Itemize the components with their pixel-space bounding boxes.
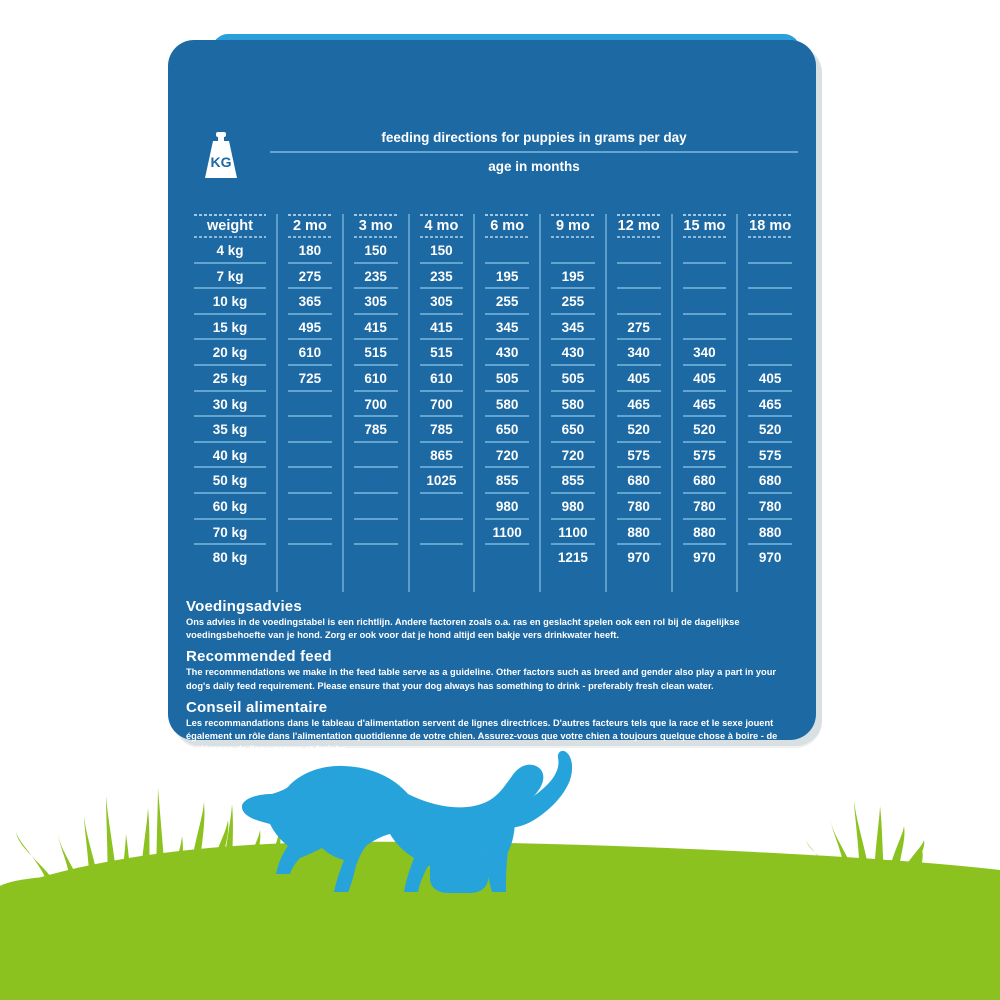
table-cell: 235 bbox=[348, 264, 404, 290]
table-cell bbox=[742, 264, 798, 290]
table-cell bbox=[414, 520, 470, 546]
note-body: The recommendations we make in the feed … bbox=[186, 666, 800, 692]
table-cell: 580 bbox=[479, 392, 535, 418]
note-heading: Voedingsadvies bbox=[186, 598, 800, 615]
table-cell: 1100 bbox=[479, 520, 535, 546]
table-cell bbox=[479, 545, 535, 571]
table-cell: 275 bbox=[282, 264, 338, 290]
table-cell: 345 bbox=[479, 315, 535, 341]
table-cell: 340 bbox=[611, 340, 667, 366]
table-cell: 680 bbox=[742, 468, 798, 494]
table-cell: 575 bbox=[677, 443, 733, 469]
table-cell: 650 bbox=[545, 417, 601, 443]
table-cell: 150 bbox=[348, 238, 404, 264]
kg-icon-label: KG bbox=[211, 154, 232, 170]
table-cell: 430 bbox=[545, 340, 601, 366]
table-cell: 780 bbox=[677, 494, 733, 520]
feeding-instruction-card: KG feeding directions for puppies in gra… bbox=[168, 40, 816, 740]
table-cell: 415 bbox=[414, 315, 470, 341]
table-cell bbox=[611, 289, 667, 315]
kg-weight-icon: KG bbox=[190, 128, 252, 184]
table-cell bbox=[282, 494, 338, 520]
span-subtitle: age in months bbox=[268, 153, 800, 180]
row-weight-label: 25 kg bbox=[188, 366, 272, 392]
table-cell: 415 bbox=[348, 315, 404, 341]
table-cell bbox=[282, 520, 338, 546]
table-cell: 780 bbox=[742, 494, 798, 520]
table-cell: 865 bbox=[414, 443, 470, 469]
table-cell: 405 bbox=[611, 366, 667, 392]
table-column-18-mo: 18 mo405465520575680780880970 bbox=[736, 214, 802, 592]
table-column-2-mo: 2 mo180275365495610725 bbox=[276, 214, 342, 592]
row-weight-label: 80 kg bbox=[188, 545, 272, 571]
row-weight-label: 30 kg bbox=[188, 392, 272, 418]
table-cell: 855 bbox=[479, 468, 535, 494]
table-cell bbox=[348, 468, 404, 494]
table-cell: 980 bbox=[479, 494, 535, 520]
table-cell bbox=[414, 494, 470, 520]
table-cell: 780 bbox=[611, 494, 667, 520]
table-column-9-mo: 9 mo195255345430505580650720855980110012… bbox=[539, 214, 605, 592]
row-weight-label: 20 kg bbox=[188, 340, 272, 366]
table-column-12-mo: 12 mo275340405465520575680780880970 bbox=[605, 214, 671, 592]
column-header-15-mo: 15 mo bbox=[677, 214, 733, 238]
table-cell bbox=[545, 238, 601, 264]
table-cell: 365 bbox=[282, 289, 338, 315]
table-cell: 465 bbox=[742, 392, 798, 418]
table-column-4-mo: 4 mo1502353054155156107007858651025 bbox=[408, 214, 474, 592]
table-cell bbox=[348, 520, 404, 546]
span-title: feeding directions for puppies in grams … bbox=[268, 124, 800, 151]
table-cell bbox=[479, 238, 535, 264]
table-cell bbox=[611, 238, 667, 264]
span-divider bbox=[270, 151, 798, 153]
table-cell: 520 bbox=[742, 417, 798, 443]
table-cell bbox=[414, 545, 470, 571]
column-header-weight: weight bbox=[188, 214, 272, 238]
table-column-3-mo: 3 mo150235305415515610700785 bbox=[342, 214, 408, 592]
row-weight-label: 10 kg bbox=[188, 289, 272, 315]
table-cell: 980 bbox=[545, 494, 601, 520]
table-cell bbox=[282, 468, 338, 494]
table-cell: 700 bbox=[348, 392, 404, 418]
table-cell: 505 bbox=[479, 366, 535, 392]
table-cell: 880 bbox=[611, 520, 667, 546]
table-cell: 1100 bbox=[545, 520, 601, 546]
table-cell bbox=[611, 264, 667, 290]
table-cell bbox=[677, 264, 733, 290]
table-cell: 150 bbox=[414, 238, 470, 264]
feeding-table: KG feeding directions for puppies in gra… bbox=[176, 122, 808, 592]
row-weight-label: 50 kg bbox=[188, 468, 272, 494]
table-cell bbox=[282, 392, 338, 418]
table-cell: 340 bbox=[677, 340, 733, 366]
row-weight-label: 15 kg bbox=[188, 315, 272, 341]
table-cell bbox=[742, 340, 798, 366]
table-cell: 1215 bbox=[545, 545, 601, 571]
table-cell: 255 bbox=[479, 289, 535, 315]
table-cell: 575 bbox=[611, 443, 667, 469]
table-cell: 465 bbox=[677, 392, 733, 418]
table-cell: 725 bbox=[282, 366, 338, 392]
table-column-6-mo: 6 mo1952553454305055806507208559801100 bbox=[473, 214, 539, 592]
table-cell bbox=[282, 417, 338, 443]
table-cell: 720 bbox=[479, 443, 535, 469]
column-header-4-mo: 4 mo bbox=[414, 214, 470, 238]
illustration-scene bbox=[0, 740, 1000, 1000]
table-column-15-mo: 15 mo340405465520575680780880970 bbox=[671, 214, 737, 592]
table-cell bbox=[677, 289, 733, 315]
table-cell: 305 bbox=[414, 289, 470, 315]
table-cell: 405 bbox=[742, 366, 798, 392]
table-cell: 610 bbox=[282, 340, 338, 366]
column-header-3-mo: 3 mo bbox=[348, 214, 404, 238]
table-cell: 305 bbox=[348, 289, 404, 315]
table-cell: 465 bbox=[611, 392, 667, 418]
table-cell: 720 bbox=[545, 443, 601, 469]
table-cell bbox=[677, 315, 733, 341]
table-cell: 195 bbox=[545, 264, 601, 290]
table-cell: 520 bbox=[677, 417, 733, 443]
table-cell: 610 bbox=[414, 366, 470, 392]
table-cell: 680 bbox=[611, 468, 667, 494]
column-header-2-mo: 2 mo bbox=[282, 214, 338, 238]
table-cell: 520 bbox=[611, 417, 667, 443]
row-weight-label: 70 kg bbox=[188, 520, 272, 546]
table-cell bbox=[348, 545, 404, 571]
table-cell: 785 bbox=[414, 417, 470, 443]
row-weight-label: 35 kg bbox=[188, 417, 272, 443]
table-cell: 785 bbox=[348, 417, 404, 443]
table-cell bbox=[282, 443, 338, 469]
table-cell: 505 bbox=[545, 366, 601, 392]
table-grid: weight4 kg7 kg10 kg15 kg20 kg25 kg30 kg3… bbox=[184, 214, 802, 592]
row-weight-label: 60 kg bbox=[188, 494, 272, 520]
note-body: Ons advies in de voedingstabel is een ri… bbox=[186, 616, 800, 642]
table-cell: 680 bbox=[677, 468, 733, 494]
table-cell: 610 bbox=[348, 366, 404, 392]
table-cell: 515 bbox=[348, 340, 404, 366]
table-cell: 970 bbox=[611, 545, 667, 571]
table-cell: 970 bbox=[677, 545, 733, 571]
table-cell: 430 bbox=[479, 340, 535, 366]
row-weight-label: 4 kg bbox=[188, 238, 272, 264]
table-cell: 235 bbox=[414, 264, 470, 290]
table-span-headers: feeding directions for puppies in grams … bbox=[268, 124, 800, 180]
table-cell bbox=[742, 315, 798, 341]
table-cell: 880 bbox=[742, 520, 798, 546]
note-heading: Recommended feed bbox=[186, 648, 800, 665]
column-header-9-mo: 9 mo bbox=[545, 214, 601, 238]
table-column-weight: weight4 kg7 kg10 kg15 kg20 kg25 kg30 kg3… bbox=[184, 214, 276, 592]
table-cell: 515 bbox=[414, 340, 470, 366]
note-heading: Conseil alimentaire bbox=[186, 699, 800, 716]
table-cell bbox=[742, 289, 798, 315]
weight-icon: KG bbox=[201, 132, 241, 180]
table-cell: 1025 bbox=[414, 468, 470, 494]
notes-section: VoedingsadviesOns advies in de voedingst… bbox=[186, 598, 800, 762]
table-cell bbox=[677, 238, 733, 264]
table-cell: 580 bbox=[545, 392, 601, 418]
table-cell: 180 bbox=[282, 238, 338, 264]
table-cell: 405 bbox=[677, 366, 733, 392]
column-header-18-mo: 18 mo bbox=[742, 214, 798, 238]
table-cell: 855 bbox=[545, 468, 601, 494]
table-cell bbox=[348, 494, 404, 520]
table-cell: 255 bbox=[545, 289, 601, 315]
column-header-6-mo: 6 mo bbox=[479, 214, 535, 238]
table-cell bbox=[348, 443, 404, 469]
table-cell: 575 bbox=[742, 443, 798, 469]
table-cell bbox=[282, 545, 338, 571]
table-cell: 495 bbox=[282, 315, 338, 341]
row-weight-label: 40 kg bbox=[188, 443, 272, 469]
table-cell: 700 bbox=[414, 392, 470, 418]
table-cell: 650 bbox=[479, 417, 535, 443]
table-cell: 880 bbox=[677, 520, 733, 546]
table-cell: 345 bbox=[545, 315, 601, 341]
table-cell: 275 bbox=[611, 315, 667, 341]
table-cell bbox=[742, 238, 798, 264]
column-header-12-mo: 12 mo bbox=[611, 214, 667, 238]
row-weight-label: 7 kg bbox=[188, 264, 272, 290]
table-cell: 195 bbox=[479, 264, 535, 290]
table-cell: 970 bbox=[742, 545, 798, 571]
